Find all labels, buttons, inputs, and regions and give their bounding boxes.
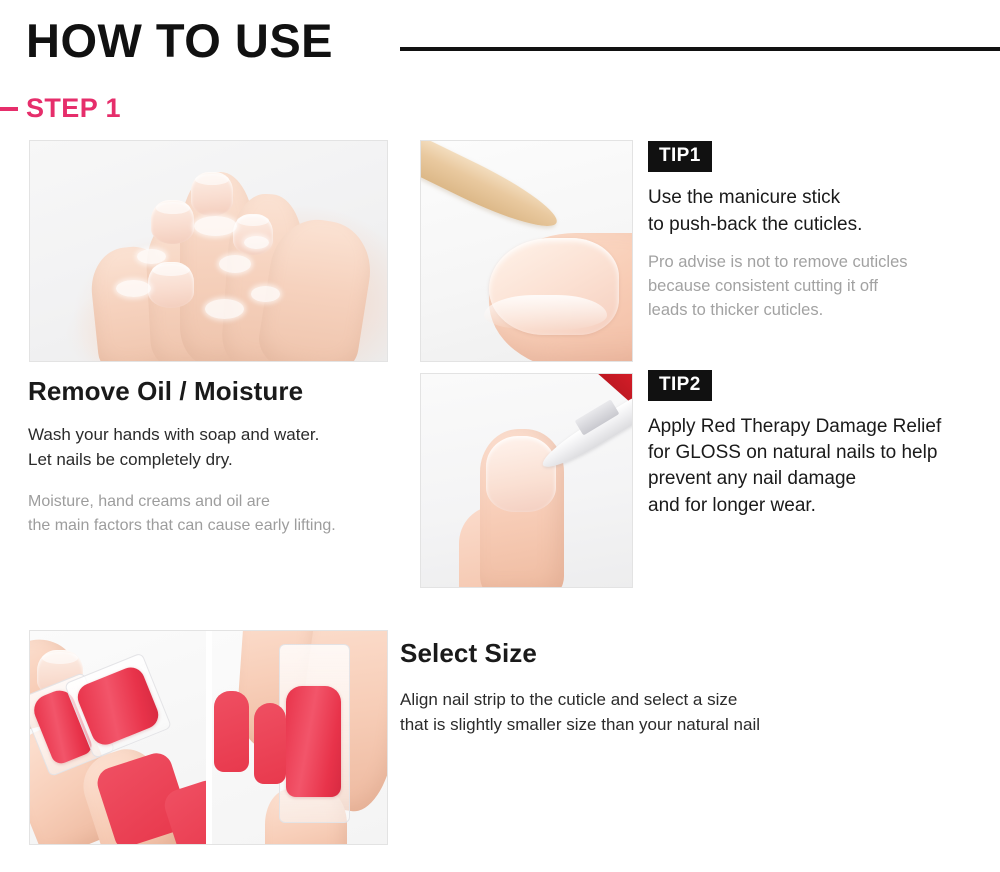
step-indicator: STEP 1 — [0, 93, 121, 124]
tip2-block: TIP2 Apply Red Therapy Damage Relief for… — [648, 370, 993, 519]
nail-shape — [486, 436, 556, 513]
remove-oil-note-line-1: Moisture, hand creams and oil are — [28, 490, 413, 514]
select-size-body-line-2: that is slightly smaller size than your … — [400, 713, 860, 738]
nail-shape — [233, 214, 272, 256]
nail-strip — [254, 703, 286, 784]
nail-shape — [148, 262, 194, 308]
select-size-panel-right — [212, 631, 388, 844]
how-to-use-page: HOW TO USE STEP 1 — [0, 0, 1000, 872]
tip1-block: TIP1 Use the manicure stick to push-back… — [648, 141, 988, 323]
photo-gloss-application — [420, 373, 633, 588]
gloss-brush-icon — [537, 397, 633, 476]
tip2-lead-line-3: prevent any nail damage — [648, 466, 993, 492]
photo-select-size — [29, 630, 388, 845]
remove-oil-heading: Remove Oil / Moisture — [28, 376, 413, 407]
step-label: STEP 1 — [26, 93, 121, 124]
tip1-lead-line-2: to push-back the cuticles. — [648, 212, 988, 239]
photo-manicure-stick — [420, 140, 633, 362]
tip1-badge: TIP1 — [648, 141, 712, 172]
tip2-lead-line-1: Apply Red Therapy Damage Relief — [648, 414, 993, 440]
step-dash-icon — [0, 107, 18, 111]
page-title: HOW TO USE — [26, 16, 333, 65]
foam-bubble — [137, 249, 166, 264]
red-corner-accent — [598, 374, 632, 404]
tip1-lead-line-1: Use the manicure stick — [648, 185, 988, 212]
photo-hands-content — [30, 141, 387, 361]
nail-strip — [286, 686, 341, 797]
nail-strip — [214, 691, 249, 772]
title-rule — [400, 47, 1000, 51]
remove-oil-body-line-2: Let nails be completely dry. — [28, 448, 413, 473]
photo-select-content — [30, 631, 387, 844]
remove-oil-block: Remove Oil / Moisture Wash your hands wi… — [28, 376, 413, 538]
select-size-panel-left — [30, 631, 206, 844]
photo-hands-with-soap — [29, 140, 388, 362]
tip2-lead-line-4: and for longer wear. — [648, 493, 993, 519]
nail-edge — [484, 295, 606, 330]
tip1-note-line-1: Pro advise is not to remove cuticles — [648, 251, 988, 275]
select-size-body-line-1: Align nail strip to the cuticle and sele… — [400, 688, 860, 713]
select-size-block: Select Size Align nail strip to the cuti… — [400, 638, 860, 737]
tip1-note-line-3: leads to thicker cuticles. — [648, 299, 988, 323]
remove-oil-body-line-1: Wash your hands with soap and water. — [28, 423, 413, 448]
nail-shape — [151, 200, 194, 244]
foam-bubble — [244, 236, 269, 249]
remove-oil-note-line-2: the main factors that can cause early li… — [28, 514, 413, 538]
photo-stick-content — [421, 141, 632, 361]
foam-bubble — [251, 286, 280, 301]
select-size-heading: Select Size — [400, 638, 860, 669]
tip2-badge: TIP2 — [648, 370, 712, 401]
manicure-stick-icon — [420, 140, 564, 240]
nail-shape — [191, 172, 234, 216]
tip2-lead-line-2: for GLOSS on natural nails to help — [648, 440, 993, 466]
photo-gloss-content — [421, 374, 632, 587]
tip1-note-line-2: because consistent cutting it off — [648, 275, 988, 299]
foam-bubble — [194, 216, 237, 236]
